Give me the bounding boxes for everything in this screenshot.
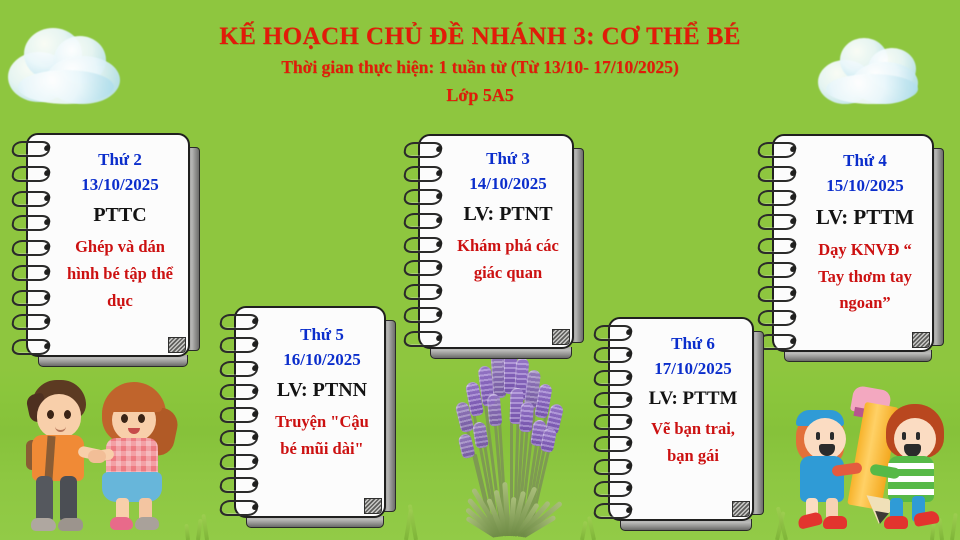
spiral-ring-icon — [593, 503, 634, 519]
lavender-leaf — [510, 491, 526, 537]
lavender-flower-spike — [530, 419, 547, 447]
spiral-ring-icon — [11, 339, 52, 355]
lavender-flower-spike — [509, 388, 523, 424]
lavender-flower-spike — [545, 403, 565, 435]
lavender-leaf — [471, 488, 504, 538]
schedule-card-thursday[interactable]: Thứ 5 16/10/2025 LV: PTNN Truyện "Cậu bé… — [220, 306, 396, 528]
card-day: Thứ 4 — [808, 148, 922, 174]
dog-ear-corner — [552, 329, 570, 345]
card-day: Thứ 2 — [62, 147, 178, 173]
spiral-ring-icon — [593, 370, 634, 386]
lavender-stem — [517, 426, 529, 532]
lavender-stem — [526, 447, 546, 532]
two-kids-carrying-pencil-illustration — [790, 386, 958, 538]
lavender-leaf — [508, 497, 516, 536]
lavender-leaf — [502, 482, 511, 536]
card-field: PTTC — [62, 197, 178, 234]
spiral-ring-icon — [757, 238, 798, 254]
lavender-flowers-illustration — [430, 385, 595, 540]
dog-ear-corner — [912, 332, 930, 348]
spiral-ring-icon — [757, 166, 798, 182]
spiral-ring-icon — [11, 166, 52, 182]
spiral-ring-icon — [11, 265, 52, 281]
lavender-leaf — [522, 515, 556, 538]
spiral-ring-icon — [403, 260, 444, 276]
boy-and-girl-illustration — [6, 376, 178, 538]
spiral-ring-icon — [757, 214, 798, 230]
card-activity: Vẽ bạn trai, bạn gái — [644, 416, 742, 469]
poster-canvas: KẾ HOẠCH CHỦ ĐỀ NHÁNH 3: CƠ THỂ BÉ Thời … — [0, 0, 960, 540]
dog-ear-corner — [364, 498, 382, 514]
spiral-ring-icon — [219, 430, 260, 446]
spiral-ring-icon — [219, 384, 260, 400]
spiral-ring-icon — [403, 142, 444, 158]
grass-blade — [950, 513, 958, 540]
lavender-stem — [473, 454, 494, 533]
spiral-ring-icon — [593, 436, 634, 452]
schedule-card-wednesday[interactable]: Thứ 4 15/10/2025 LV: PTTM Dạy KNVĐ “ Tay… — [758, 134, 944, 362]
lavender-stem — [513, 418, 520, 532]
spiral-ring-icon — [757, 190, 798, 206]
card-field: LV: PTTM — [644, 381, 742, 416]
spiral-binding — [404, 142, 440, 345]
lavender-flower-spike — [540, 427, 557, 453]
note-paper: Thứ 2 13/10/2025 PTTC Ghép và dán hình b… — [26, 133, 190, 357]
spiral-ring-icon — [757, 286, 798, 302]
card-day: Thứ 3 — [454, 146, 562, 172]
lavender-stem — [483, 443, 500, 532]
lavender-leaf — [465, 516, 496, 538]
spiral-ring-icon — [403, 213, 444, 229]
dog-ear-corner — [732, 501, 750, 517]
lavender-stem — [529, 430, 556, 532]
spiral-binding — [594, 325, 630, 517]
card-date: 13/10/2025 — [62, 173, 178, 198]
card-activity: Dạy KNVĐ “ Tay thơm tay ngoan” — [808, 237, 922, 317]
card-field: LV: PTNT — [454, 196, 562, 233]
spiral-binding — [220, 314, 256, 514]
spiral-ring-icon — [593, 414, 634, 430]
schedule-card-monday[interactable]: Thứ 2 13/10/2025 PTTC Ghép và dán hình b… — [12, 133, 200, 367]
card-field: LV: PTNN — [270, 372, 374, 409]
spiral-ring-icon — [219, 500, 260, 516]
lavender-flower-spike — [534, 383, 553, 419]
spiral-ring-icon — [593, 392, 634, 408]
spiral-binding — [12, 141, 48, 353]
page-subtitle: Thời gian thực hiện: 1 tuần từ (Từ 13/10… — [0, 56, 960, 80]
lavender-flower-spike — [514, 358, 529, 401]
lavender-stem — [483, 401, 503, 532]
spiral-ring-icon — [593, 325, 634, 341]
lavender-flower-spike — [472, 421, 489, 449]
spiral-ring-icon — [593, 481, 634, 497]
spiral-ring-icon — [403, 284, 444, 300]
lavender-leaf — [467, 498, 502, 538]
spiral-ring-icon — [219, 477, 260, 493]
grass-blade — [201, 514, 209, 540]
spiral-ring-icon — [11, 215, 52, 231]
lavender-stem — [510, 388, 513, 532]
spiral-ring-icon — [403, 189, 444, 205]
lavender-flower-spike — [455, 401, 475, 433]
dog-ear-corner — [168, 337, 186, 353]
schedule-card-friday[interactable]: Thứ 6 17/10/2025 LV: PTTM Vẽ bạn trai, b… — [594, 317, 764, 531]
card-activity: Ghép và dán hình bé tập thể dục — [62, 234, 178, 314]
lavender-leaf — [487, 498, 507, 537]
spiral-ring-icon — [403, 307, 444, 323]
lavender-leaf — [520, 501, 563, 538]
card-date: 15/10/2025 — [808, 174, 922, 199]
card-day: Thứ 6 — [644, 331, 742, 357]
lavender-leaf — [493, 490, 508, 537]
spiral-ring-icon — [11, 290, 52, 306]
grass-blade — [937, 518, 944, 540]
card-activity: Truyện "Cậu bé mũi dài" — [270, 409, 374, 462]
lavender-flower-spike — [457, 433, 475, 459]
lavender-stem — [522, 441, 538, 532]
lavender-stem — [515, 394, 526, 532]
spiral-ring-icon — [219, 454, 260, 470]
spiral-ring-icon — [11, 240, 52, 256]
spiral-ring-icon — [757, 142, 798, 158]
poster-header: KẾ HOẠCH CHỦ ĐỀ NHÁNH 3: CƠ THỂ BÉ Thời … — [0, 22, 960, 108]
grass-blade — [580, 521, 588, 540]
lavender-flower-spike — [478, 365, 496, 406]
grass-blade — [930, 523, 936, 540]
card-field: LV: PTTM — [808, 198, 922, 237]
spiral-ring-icon — [403, 331, 444, 347]
spiral-ring-icon — [219, 407, 260, 423]
lavender-leaf — [513, 486, 538, 537]
lavender-flower-spike — [491, 354, 507, 399]
lavender-stem — [496, 392, 508, 532]
card-date: 17/10/2025 — [644, 357, 742, 382]
spiral-ring-icon — [593, 347, 634, 363]
spiral-ring-icon — [403, 166, 444, 182]
spiral-ring-icon — [11, 191, 52, 207]
card-day: Thứ 5 — [270, 322, 374, 348]
card-activity: Khám phá các giác quan — [454, 233, 562, 286]
grass-blade — [184, 524, 190, 540]
spiral-ring-icon — [219, 361, 260, 377]
lavender-stem — [465, 429, 493, 533]
schedule-card-tuesday[interactable]: Thứ 3 14/10/2025 LV: PTNT Khám phá các g… — [404, 134, 584, 359]
lavender-stem — [519, 403, 537, 532]
spiral-ring-icon — [11, 314, 52, 330]
lavender-flower-spike — [519, 402, 534, 433]
lavender-flower-spike — [524, 369, 541, 408]
card-date: 16/10/2025 — [270, 348, 374, 373]
page-title: KẾ HOẠCH CHỦ ĐỀ NHÁNH 3: CƠ THỂ BÉ — [0, 22, 960, 52]
lavender-flower-spike — [465, 381, 484, 417]
spiral-ring-icon — [219, 337, 260, 353]
lavender-stem — [524, 414, 548, 533]
lavender-leaf — [517, 500, 550, 537]
lavender-leaf — [515, 502, 539, 537]
spiral-ring-icon — [11, 141, 52, 157]
lavender-flower-spike — [487, 394, 503, 427]
lavender-stem — [494, 420, 506, 532]
spiral-ring-icon — [219, 314, 260, 330]
spiral-ring-icon — [757, 262, 798, 278]
lavender-leaf — [465, 507, 499, 538]
class-label: Lớp 5A5 — [0, 84, 960, 107]
card-date: 14/10/2025 — [454, 172, 562, 197]
spiral-ring-icon — [593, 459, 634, 475]
spiral-ring-icon — [403, 237, 444, 253]
lavender-stem — [472, 412, 498, 532]
